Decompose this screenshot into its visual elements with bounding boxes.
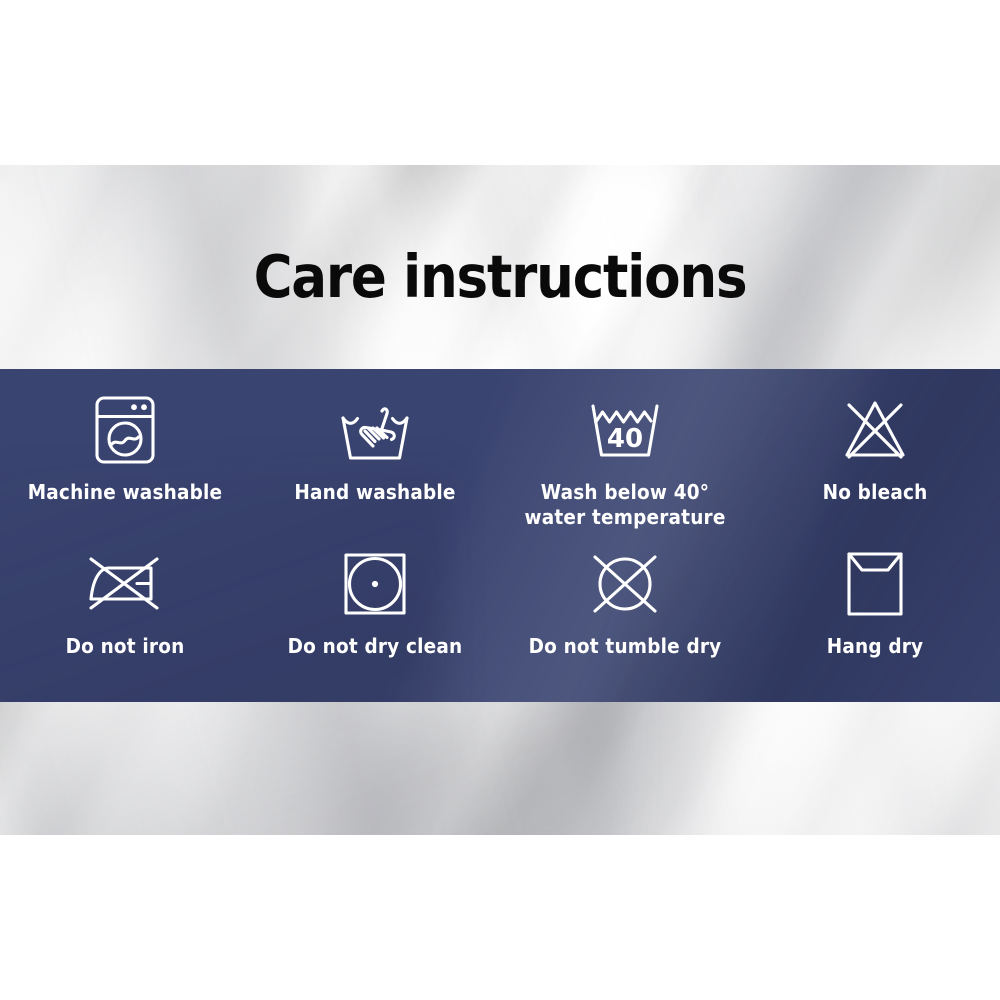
do-not-dry-clean-circle-square-icon — [342, 547, 408, 621]
care-item-do-not-dry-clean: Do not dry clean — [250, 533, 500, 702]
care-item-do-not-tumble-dry: Do not tumble dry — [500, 533, 750, 702]
care-item-label: Machine washable — [28, 480, 223, 505]
care-item-label: No bleach — [823, 480, 928, 505]
do-not-tumble-dry-crossed-circle-icon — [589, 547, 661, 621]
do-not-iron-crossed-icon — [85, 547, 165, 621]
care-item-do-not-iron: Do not iron — [0, 533, 250, 702]
hand-wash-basin-icon — [335, 393, 415, 467]
care-item-label: Do not iron — [66, 634, 185, 659]
care-symbols-band: Machine washable — [0, 369, 1000, 702]
care-symbols-grid: Machine washable — [0, 369, 1000, 702]
wash-temperature-value: 40 — [607, 424, 643, 454]
care-item-wash-below-40: 40 Wash below 40° water temperature — [500, 369, 750, 533]
care-item-hand-washable: Hand washable — [250, 369, 500, 533]
care-instructions-graphic: Care instructions Machine washa — [0, 0, 1000, 1000]
hang-dry-icon — [845, 547, 905, 621]
wash-tub-40-degrees-icon: 40 — [586, 393, 664, 467]
care-item-machine-washable: Machine washable — [0, 369, 250, 533]
care-item-label: Do not tumble dry — [529, 634, 722, 659]
washing-machine-icon — [92, 393, 158, 467]
no-bleach-triangle-crossed-icon — [839, 393, 911, 467]
care-item-label: Do not dry clean — [288, 634, 463, 659]
care-item-label: Hand washable — [294, 480, 455, 505]
care-item-hang-dry: Hang dry — [750, 533, 1000, 702]
care-item-no-bleach: No bleach — [750, 369, 1000, 533]
care-item-label: Hang dry — [827, 634, 924, 659]
care-item-label: Wash below 40° water temperature — [524, 480, 725, 530]
page-title: Care instructions — [0, 246, 1000, 308]
